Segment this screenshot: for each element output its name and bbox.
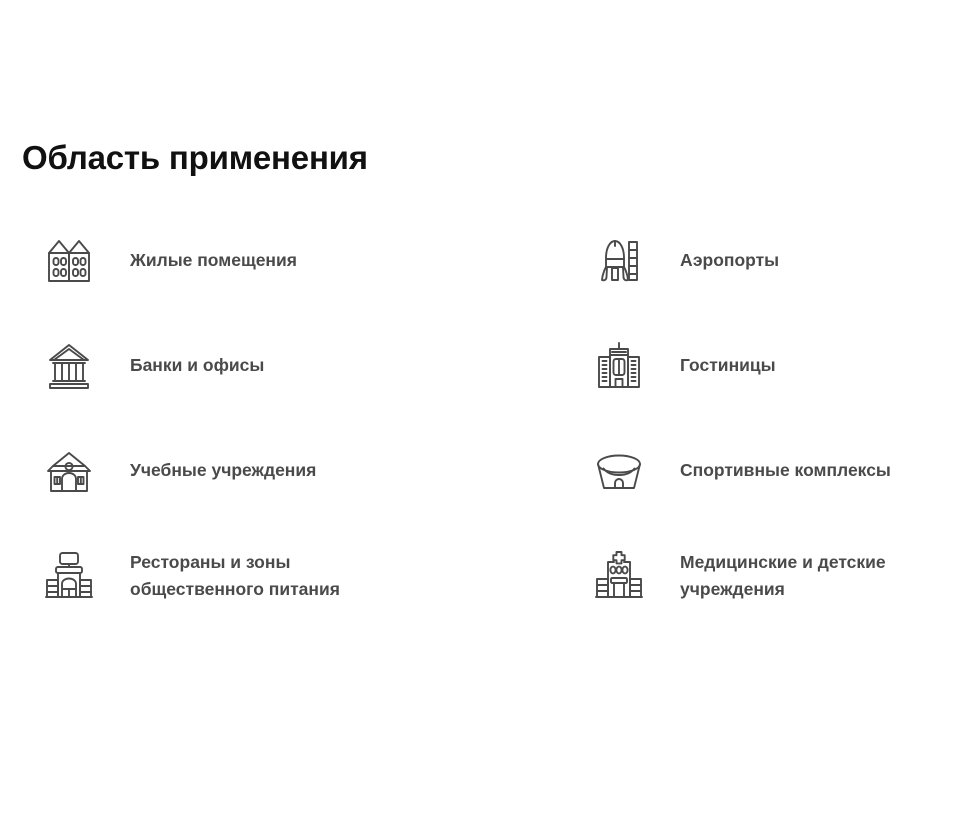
feature-item-airports[interactable]: Аэропорты xyxy=(594,232,970,290)
feature-label-line: Спортивные комплексы xyxy=(680,457,891,484)
feature-item-restaurants[interactable]: Рестораны и зоны общественного питания xyxy=(44,547,464,605)
feature-item-hotels[interactable]: Гостиницы xyxy=(594,337,970,395)
feature-label: Аэропорты xyxy=(680,232,779,274)
feature-item-schools[interactable]: Учебные учреждения xyxy=(44,442,464,500)
feature-label: Рестораны и зоны общественного питания xyxy=(130,547,340,603)
feature-grid: Жилые помещения xyxy=(0,232,970,652)
hotel-icon xyxy=(594,339,644,395)
feature-label: Медицинские и детские учреждения xyxy=(680,547,886,603)
feature-label-line: общественного питания xyxy=(130,576,340,603)
feature-item-residential-buildings[interactable]: Жилые помещения xyxy=(44,232,464,290)
feature-label-line: Учебные учреждения xyxy=(130,457,316,484)
feature-row: Учебные учреждения Спортивные комплексы xyxy=(0,442,970,547)
residential-buildings-icon xyxy=(44,234,94,290)
feature-label-line: учреждения xyxy=(680,576,886,603)
feature-label: Банки и офисы xyxy=(130,337,264,379)
feature-row: Банки и офисы xyxy=(0,337,970,442)
feature-row: Рестораны и зоны общественного питания xyxy=(0,547,970,652)
application-areas-page: Область применения xyxy=(0,0,970,820)
feature-label-line: Медицинские и детские xyxy=(680,549,886,576)
hospital-icon xyxy=(594,549,644,605)
feature-label: Спортивные комплексы xyxy=(680,442,891,484)
feature-label-line: Банки и офисы xyxy=(130,352,264,379)
stadium-icon xyxy=(594,444,644,500)
feature-label-line: Жилые помещения xyxy=(130,247,297,274)
feature-item-medical-children[interactable]: Медицинские и детские учреждения xyxy=(594,547,970,605)
feature-label: Жилые помещения xyxy=(130,232,297,274)
page-title: Область применения xyxy=(22,138,368,178)
feature-label: Гостиницы xyxy=(680,337,776,379)
bank-office-icon xyxy=(44,339,94,395)
feature-label-line: Аэропорты xyxy=(680,247,779,274)
feature-label-line: Рестораны и зоны xyxy=(130,549,340,576)
restaurant-icon xyxy=(44,549,94,605)
airport-icon xyxy=(594,234,644,290)
feature-label: Учебные учреждения xyxy=(130,442,316,484)
feature-item-banks-offices[interactable]: Банки и офисы xyxy=(44,337,464,395)
feature-label-line: Гостиницы xyxy=(680,352,776,379)
school-icon xyxy=(44,444,94,500)
feature-item-sports-complexes[interactable]: Спортивные комплексы xyxy=(594,442,970,500)
feature-row: Жилые помещения xyxy=(0,232,970,337)
